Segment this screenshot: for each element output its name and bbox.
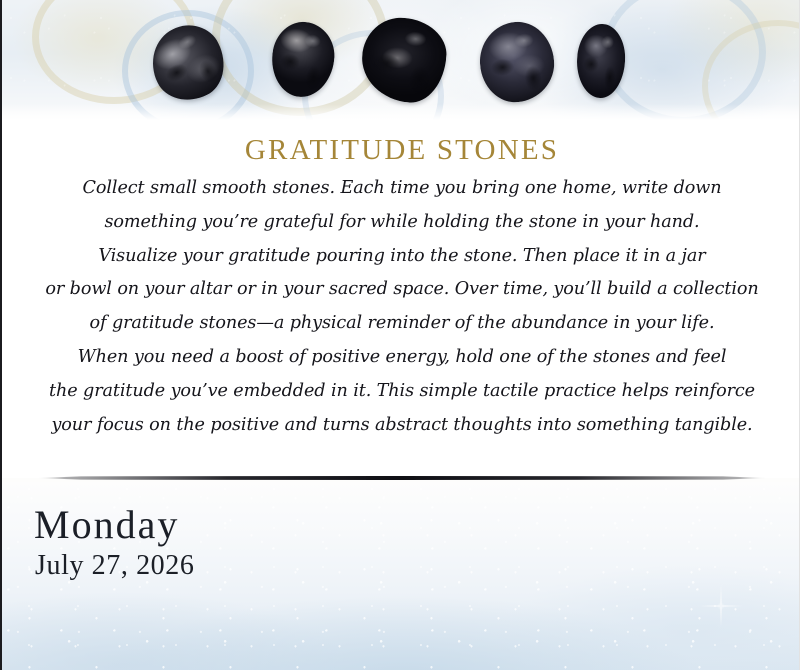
gratitude-stone-4 — [477, 19, 558, 105]
entry-body: Collect small smooth stones. Each time y… — [26, 172, 778, 442]
sparkle-icon — [700, 585, 742, 627]
date-label: July 27, 2026 — [35, 552, 194, 580]
body-line: When you need a boost of positive energy… — [26, 341, 778, 375]
banner-bottom-fade — [2, 104, 800, 120]
gratitude-stone-5 — [575, 23, 627, 99]
body-line: of gratitude stones—a physical reminder … — [26, 307, 778, 341]
body-line: Visualize your gratitude pouring into th… — [26, 240, 778, 274]
divider-rule — [37, 476, 767, 480]
stone-mottling — [575, 23, 627, 99]
body-line: or bowl on your altar or in your sacred … — [26, 273, 778, 307]
entry-title: GRATITUDE STONES — [2, 134, 800, 167]
stone-mottling — [268, 19, 339, 101]
body-line: something you’re grateful for while hold… — [26, 206, 778, 240]
gratitude-stone-3 — [359, 15, 449, 105]
header-image-banner — [2, 0, 800, 120]
sparkle-core — [717, 602, 725, 610]
body-line: your focus on the positive and turns abs… — [26, 409, 778, 443]
body-line: Collect small smooth stones. Each time y… — [26, 172, 778, 206]
entry-content: GRATITUDE STONES Collect small smooth st… — [2, 120, 800, 478]
stone-mottling — [477, 19, 558, 105]
gratitude-stone-2 — [268, 19, 339, 101]
weekday-label: Monday — [34, 505, 179, 545]
daily-calendar-page: GRATITUDE STONES Collect small smooth st… — [0, 0, 800, 670]
section-divider — [37, 474, 767, 482]
body-line: the gratitude you’ve embedded in it. Thi… — [26, 375, 778, 409]
stone-mottling — [359, 15, 449, 105]
